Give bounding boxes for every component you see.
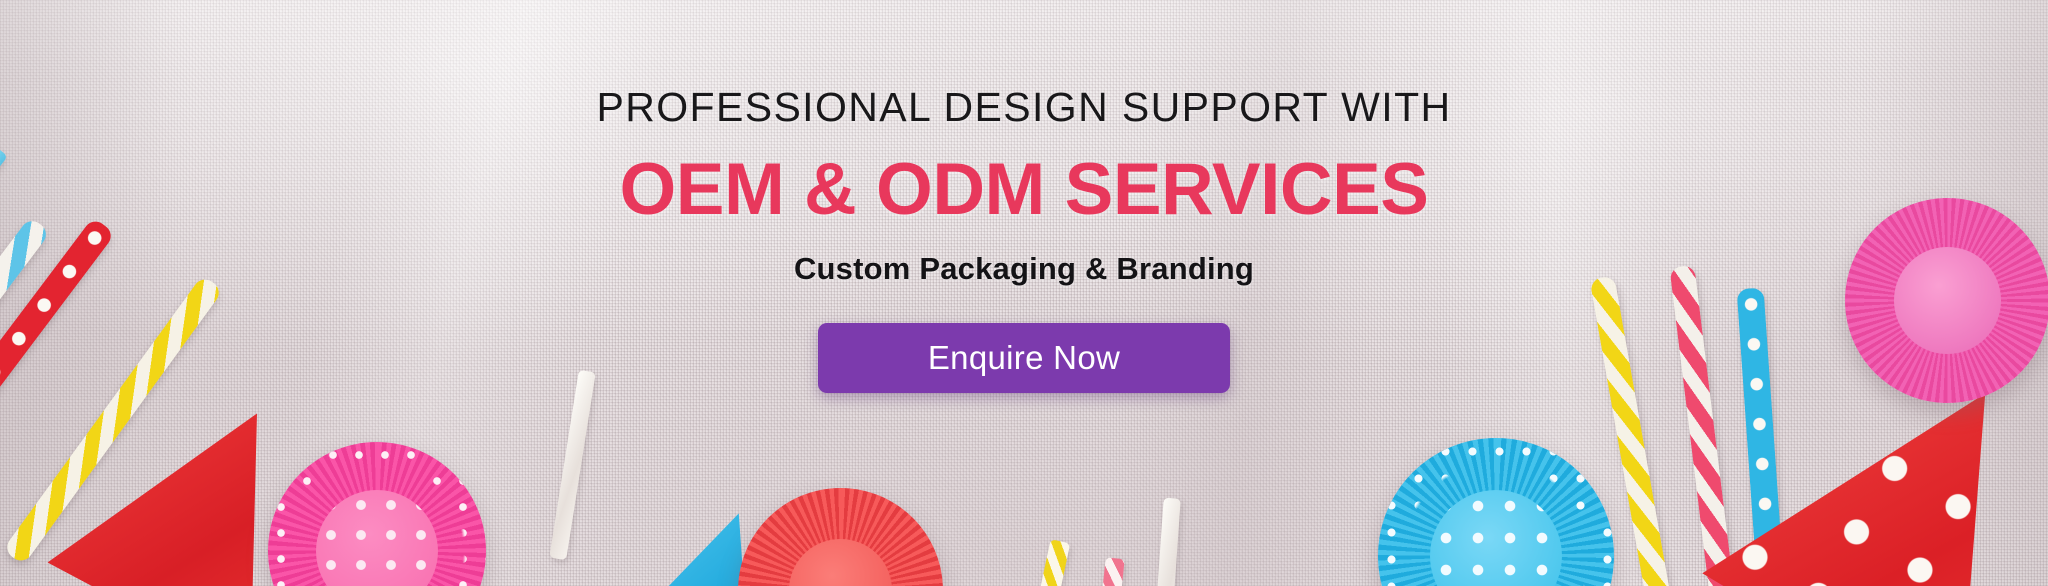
banner-subheadline: Custom Packaging & Branding — [794, 251, 1254, 287]
banner-headline: OEM & ODM SERVICES — [619, 148, 1428, 231]
enquire-now-button[interactable]: Enquire Now — [818, 323, 1230, 393]
banner-eyebrow-text: PROFESSIONAL DESIGN SUPPORT WITH — [596, 84, 1451, 131]
promo-banner: PROFESSIONAL DESIGN SUPPORT WITH OEM & O… — [0, 0, 2048, 586]
banner-content: PROFESSIONAL DESIGN SUPPORT WITH OEM & O… — [0, 0, 2048, 586]
